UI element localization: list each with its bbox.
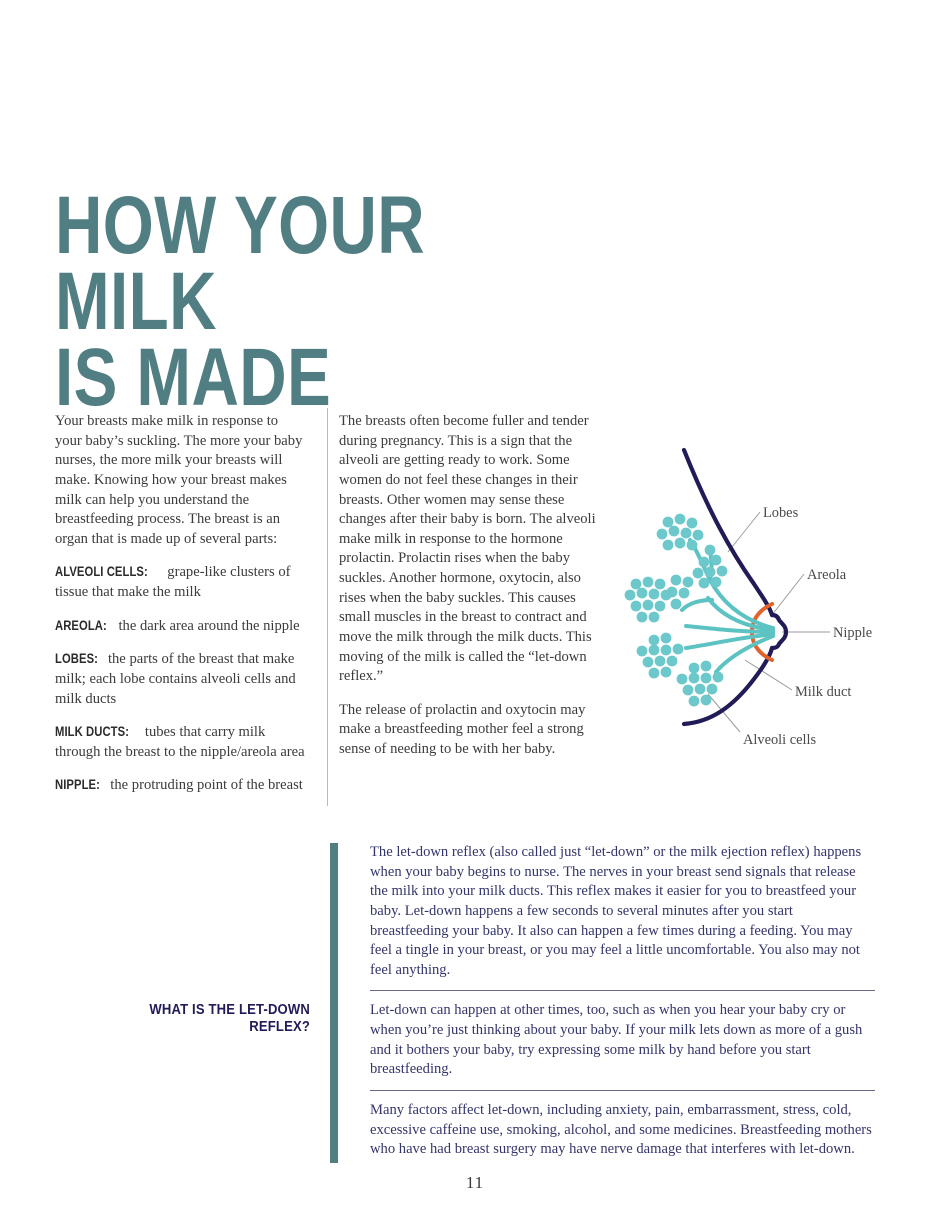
- glossary-item-lobes: LOBES: the parts of the breast that make…: [55, 650, 307, 709]
- glossary-item-nipple: NIPPLE: the protruding point of the brea…: [55, 776, 307, 796]
- glossary-term: ALVEOLI CELLS:: [55, 563, 148, 581]
- alveoli-clusters: [625, 514, 728, 707]
- document-page: HOW YOUR MILK IS MADE Your breasts make …: [0, 0, 950, 1230]
- alveoli-cluster: [625, 577, 672, 623]
- glossary-term: MILK DUCTS:: [55, 723, 129, 741]
- column-divider-rule: [327, 408, 328, 806]
- glossary-definition: the protruding point of the breast: [107, 777, 303, 793]
- letdown-section-body: The let-down reflex (also called just “l…: [370, 843, 875, 1169]
- glossary-item-milk-ducts: MILK DUCTS: tubes that carry milk throug…: [55, 723, 307, 762]
- letdown-paragraph: Many factors affect let-down, including …: [370, 1090, 875, 1169]
- diagram-label-areola: Areola: [807, 567, 847, 583]
- middle-text-column: The breasts often become fuller and tend…: [339, 412, 597, 760]
- body-paragraph: The breasts often become fuller and tend…: [339, 412, 597, 687]
- left-text-column: Your breasts make milk in response to yo…: [55, 412, 307, 796]
- body-paragraph: The release of prolactin and oxytocin ma…: [339, 701, 597, 760]
- glossary-item-alveoli-cells: ALVEOLI CELLS: grape-like clusters of ti…: [55, 563, 307, 602]
- glossary-term: AREOLA:: [55, 617, 107, 635]
- breast-anatomy-diagram: Lobes Areola Nipple Milk duct Alveoli ce…: [612, 432, 942, 762]
- letdown-section-heading: WHAT IS THE LET-DOWN REFLEX?: [129, 1001, 310, 1036]
- glossary-term: NIPPLE:: [55, 776, 100, 794]
- alveoli-cluster: [637, 633, 684, 679]
- glossary-definition: the dark area around the nipple: [115, 618, 300, 634]
- glossary-term: LOBES:: [55, 650, 98, 668]
- letdown-paragraph: Let-down can happen at other times, too,…: [370, 990, 875, 1089]
- glossary-item-areola: AREOLA: the dark area around the nipple: [55, 617, 307, 637]
- diagram-label-alveoli-cells: Alveoli cells: [743, 732, 817, 748]
- letdown-paragraph: The let-down reflex (also called just “l…: [370, 843, 875, 989]
- diagram-label-nipple: Nipple: [833, 625, 872, 641]
- intro-paragraph: Your breasts make milk in response to yo…: [55, 412, 307, 549]
- diagram-label-milk-duct: Milk duct: [795, 684, 851, 700]
- alveoli-cluster: [657, 514, 704, 551]
- alveoli-cluster: [677, 661, 724, 707]
- letdown-accent-bar: [330, 843, 338, 1163]
- page-title: HOW YOUR MILK IS MADE: [55, 188, 535, 417]
- diagram-label-lobes: Lobes: [763, 505, 799, 521]
- page-number: 11: [0, 1173, 950, 1193]
